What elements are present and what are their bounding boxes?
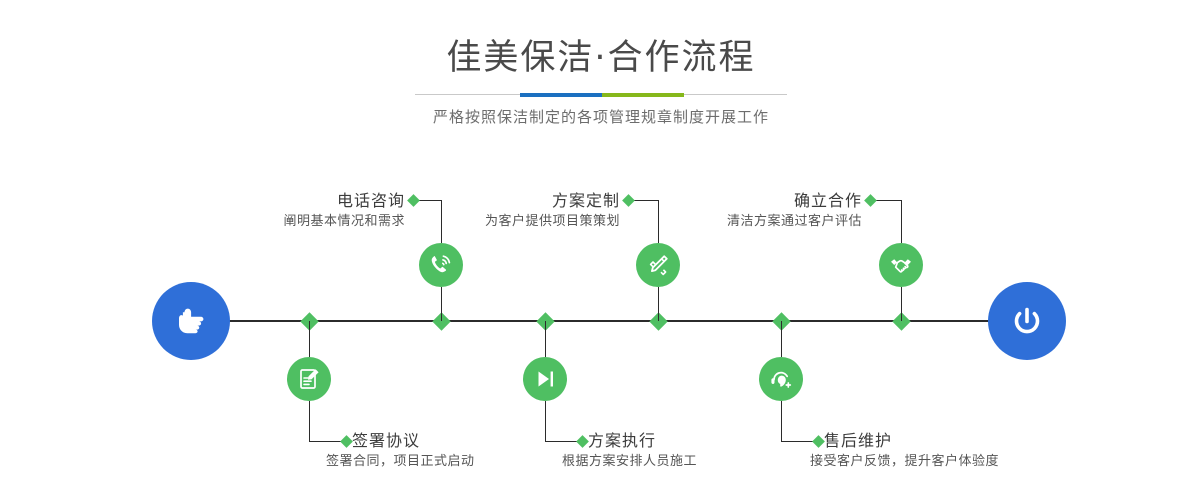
step-6-desc: 接受客户反馈，提升客户体验度 [810,452,1124,472]
title-divider [415,93,787,97]
step-3-tip-marker [622,194,635,207]
step-4-stem-lower [545,401,546,441]
step-1-desc: 阐明基本情况和需求 [190,212,405,232]
step-2-icon-badge[interactable] [287,357,331,401]
step-5-stem-lower [901,287,902,321]
timeline-start-node[interactable] [152,282,230,360]
step-3-icon-badge[interactable] [636,243,680,287]
step-1-stem-lower [441,287,442,321]
step-5-desc: 清洁方案通过客户评估 [646,212,862,232]
step-3-desc: 为客户提供项目策策划 [404,212,620,232]
page-subtitle: 严格按照保洁制定的各项管理规章制度开展工作 [0,107,1202,127]
step-2-stem-lower [309,401,310,441]
step-5-label: 确立合作 清洁方案通过客户评估 [646,190,862,232]
step-5-stem-upper [901,200,902,243]
flowchart-canvas: 佳美保洁·合作流程 严格按照保洁制定的各项管理规章制度开展工作 [0,0,1202,502]
step-3-label: 方案定制 为客户提供项目策策划 [404,190,620,232]
timeline-end-node[interactable] [988,282,1066,360]
step-6-label: 售后维护 接受客户反馈，提升客户体验度 [824,430,1124,472]
step-6-icon-badge[interactable] [759,357,803,401]
step-6-stem-upper [781,321,782,357]
step-3-stem-lower [658,287,659,321]
step-4-icon-badge[interactable] [523,357,567,401]
step-6-stem-lower [781,401,782,441]
step-4-stem-upper [545,321,546,357]
divider-green-segment [602,93,684,97]
step-1-icon-badge[interactable] [419,243,463,287]
step-6-title: 售后维护 [824,430,1124,452]
step-1-label: 电话咨询 阐明基本情况和需求 [190,190,405,232]
step-5-title: 确立合作 [646,190,862,212]
step-2-tip-marker [340,435,353,448]
step-5-tip-marker [864,194,877,207]
step-5-icon-badge[interactable] [879,243,923,287]
page-title: 佳美保洁·合作流程 [0,38,1202,78]
step-2-stem-upper [309,321,310,357]
step-4-label: 方案执行 根据方案安排人员施工 [588,430,848,472]
divider-blue-segment [520,93,602,97]
step-3-title: 方案定制 [404,190,620,212]
step-4-desc: 根据方案安排人员施工 [562,452,848,472]
step-1-title: 电话咨询 [190,190,405,212]
